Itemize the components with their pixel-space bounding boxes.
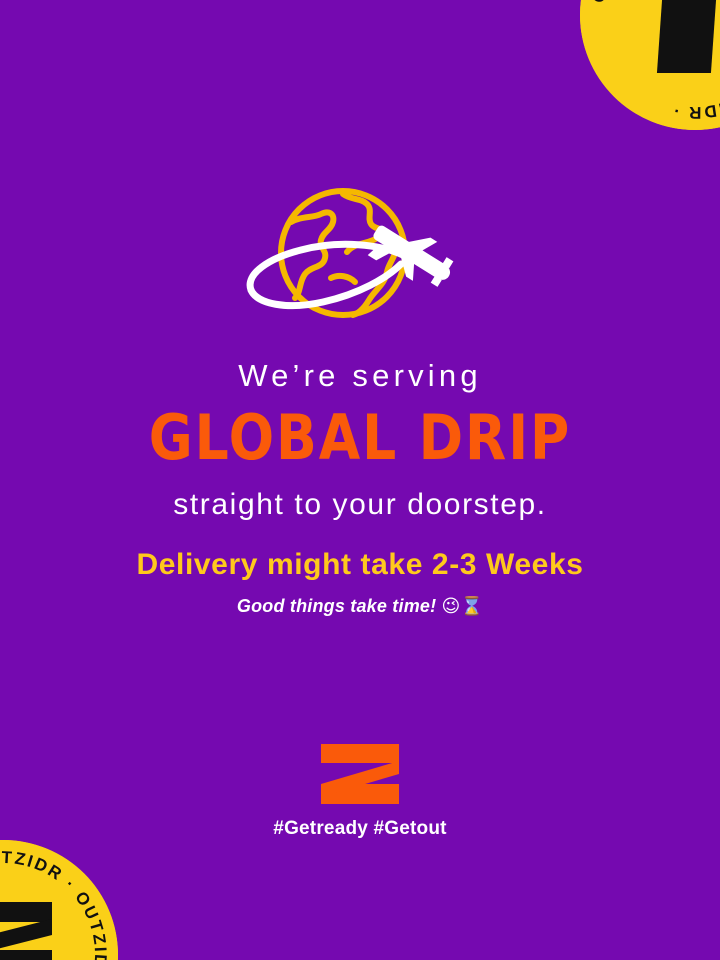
globe-illustration — [0, 178, 720, 338]
footer-block: #Getready #Getout — [0, 744, 720, 840]
delivery-tagline: Good things take time! 😉⌛ — [0, 597, 720, 617]
hashtags-text: #Getready #Getout — [0, 818, 720, 840]
poster-canvas: OUTZIDR · OUTZIDR · OUTZIDR · OUTZIDR · — [0, 0, 720, 960]
orbit-swoosh-lower-icon — [251, 264, 401, 306]
delivery-tagline-text: Good things take time! — [237, 596, 436, 616]
delivery-tagline-emoji: 😉⌛ — [442, 596, 484, 617]
badge-bottom-left: OUTZIDR · OUTZIDR · OUTZIDR · OUTZIDR · … — [0, 840, 118, 960]
main-copy-block: We’re serving GLOBAL DRIP straight to yo… — [0, 360, 720, 520]
badge-bottom-left-graphic: OUTZIDR · OUTZIDR · OUTZIDR · OUTZIDR · … — [0, 840, 118, 960]
kicker-text: We’re serving — [0, 360, 720, 393]
delivery-note-block: Delivery might take 2-3 Weeks Good thing… — [0, 548, 720, 617]
delivery-time-text: Delivery might take 2-3 Weeks — [0, 548, 720, 581]
badge-center-zmark — [0, 902, 52, 960]
z-logo-mark-icon — [321, 744, 399, 804]
subline-text: straight to your doorstep. — [0, 489, 720, 521]
badge-top-right: OUTZIDR · OUTZIDR · OUTZIDR · OUTZIDR · — [580, 0, 720, 130]
headline-text: GLOBAL DRIP — [14, 407, 705, 469]
badge-center-zmark — [657, 0, 719, 73]
globe-airplane-graphic — [235, 178, 485, 338]
badge-top-right-graphic: OUTZIDR · OUTZIDR · OUTZIDR · OUTZIDR · — [580, 0, 720, 130]
